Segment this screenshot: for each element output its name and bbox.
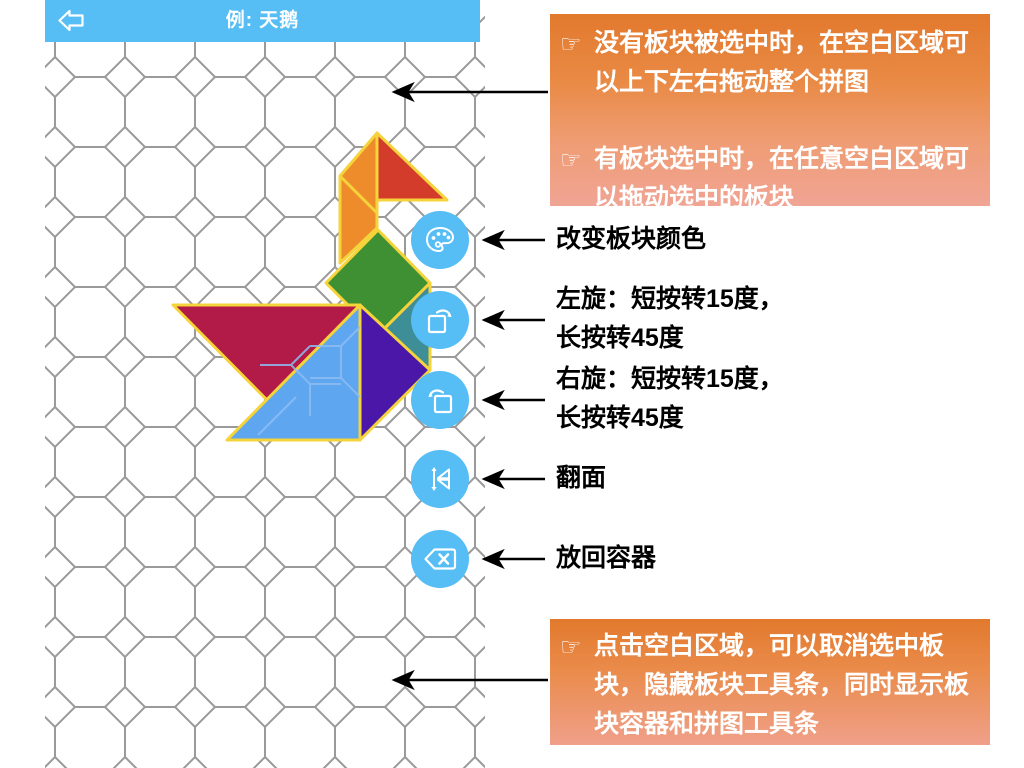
label-change-color: 改变板块颜色 [556, 220, 706, 259]
flip-horizontal-icon [423, 462, 457, 496]
page-title: 例: 天鹅 [97, 0, 480, 42]
app-header-bar: 例: 天鹅 [45, 0, 480, 42]
rotate-left-button[interactable] [411, 291, 469, 349]
flip-button[interactable] [411, 450, 469, 508]
piece-red-triangle[interactable] [377, 133, 447, 200]
note-text: 有板块选中时，在任意空白区域可以拖动选中的板块 [594, 145, 969, 212]
label-rotate-left: 左旋：短按转15度， 长按转45度 [556, 280, 784, 358]
note-paragraph: ☞ 有板块选中时，在任意空白区域可以拖动选中的板块 [560, 140, 978, 218]
label-flip: 翻面 [556, 459, 606, 498]
note-paragraph: ☞ 点击空白区域，可以取消选中板块，隐藏板块工具条，同时显示板块容器和拼图工具条 [560, 627, 978, 744]
change-color-button[interactable] [411, 211, 469, 269]
pointing-hand-icon: ☞ [560, 628, 582, 667]
back-arrow-icon [56, 8, 86, 34]
note-text: 没有板块被选中时，在空白区域可以上下左右拖动整个拼图 [594, 29, 969, 96]
back-button[interactable] [45, 0, 97, 42]
return-to-tray-button[interactable] [411, 530, 469, 588]
note-box-drag-hint: ☞ 没有板块被选中时，在空白区域可以上下左右拖动整个拼图 ☞ 有板块选中时，在任… [550, 14, 990, 206]
label-return-tray: 放回容器 [556, 539, 656, 578]
note-text: 点击空白区域，可以取消选中板块，隐藏板块工具条，同时显示板块容器和拼图工具条 [594, 632, 969, 738]
rotate-right-icon [423, 383, 457, 417]
rotate-right-button[interactable] [411, 371, 469, 429]
note-box-tap-hint: ☞ 点击空白区域，可以取消选中板块，隐藏板块工具条，同时显示板块容器和拼图工具条 [550, 619, 990, 745]
pointing-hand-icon: ☞ [560, 141, 582, 180]
note-paragraph: ☞ 没有板块被选中时，在空白区域可以上下左右拖动整个拼图 [560, 24, 978, 102]
pointing-hand-icon: ☞ [560, 25, 582, 64]
palette-icon [423, 223, 457, 257]
backspace-delete-icon [422, 544, 458, 574]
label-rotate-right: 右旋：短按转15度， 长按转45度 [556, 360, 784, 438]
rotate-left-icon [423, 303, 457, 337]
